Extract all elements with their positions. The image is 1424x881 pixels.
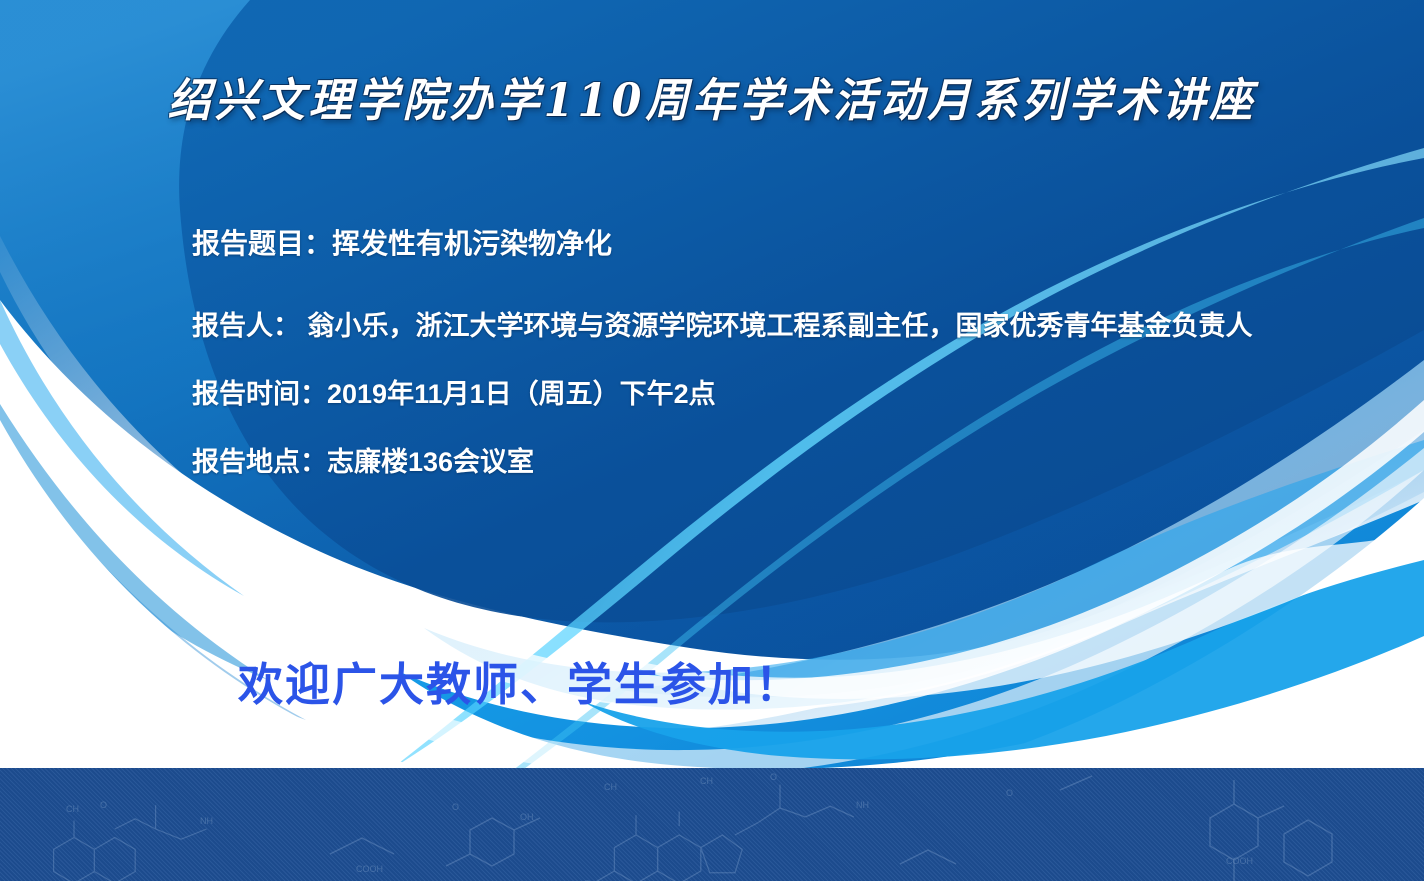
lecture-venue-line: 报告地点：志廉楼136会议室 [192,447,1412,478]
page-title: 绍兴文理学院办学110周年学术活动月系列学术讲座 [0,64,1424,130]
lecture-topic-line: 报告题目：挥发性有机污染物净化 [192,228,1412,260]
slide-content: 绍兴文理学院办学110周年学术活动月系列学术讲座 报告题目：挥发性有机污染物净化… [0,0,1424,881]
lecture-speaker-line: 报告人： 翁小乐，浙江大学环境与资源学院环境工程系副主任，国家优秀青年基金负责人 [192,311,1412,342]
lecture-details-list: 报告题目：挥发性有机污染物净化 报告人： 翁小乐，浙江大学环境与资源学院环境工程… [192,228,1412,478]
welcome-message: 欢迎广大教师、学生参加！ [238,648,802,713]
presentation-slide: CH CH O NH O CH O NH OH O COOH COOH 绍兴文理… [0,0,1424,881]
lecture-time-line: 报告时间：2019年11月1日（周五）下午2点 [192,379,1412,410]
